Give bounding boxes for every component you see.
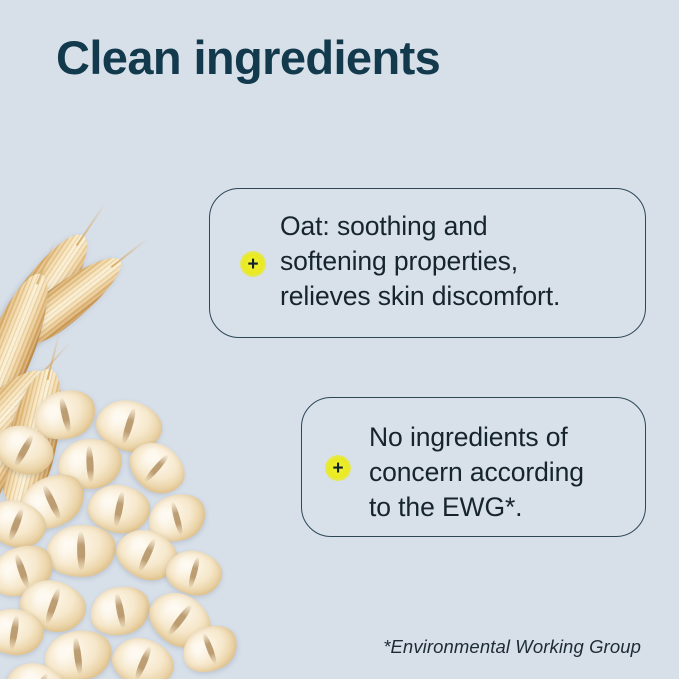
callout-card-ewg[interactable]: + No ingredients of concern according to…: [301, 397, 646, 537]
product-infographic: Clean ingredients + Oat: soo: [0, 0, 679, 679]
plus-icon: +: [240, 251, 266, 277]
oat-flake: [44, 523, 117, 580]
oat-hull: [4, 245, 133, 358]
callout-card-oat[interactable]: + Oat: soothing and softening properties…: [209, 188, 646, 338]
oat-hull: [0, 222, 103, 372]
oat-flake: [0, 537, 61, 605]
oat-flake: [120, 432, 194, 504]
oat-flake: [162, 546, 226, 601]
oat-flake: [85, 580, 155, 641]
oat-hull: [0, 428, 27, 570]
oat-flake: [142, 487, 211, 549]
oat-flake: [91, 394, 167, 458]
oat-flake: [29, 383, 102, 446]
oat-flake: [10, 464, 94, 540]
oat-flake: [0, 493, 52, 555]
oat-flake: [109, 521, 184, 589]
callout-text-oat: Oat: soothing and softening properties, …: [280, 209, 560, 314]
oat-flake: [106, 630, 181, 679]
page-title: Clean ingredients: [56, 32, 440, 85]
oat-hull: [0, 265, 63, 412]
oat-flake: [0, 606, 46, 658]
oat-flake: [85, 481, 153, 537]
oat-flake: [40, 625, 116, 679]
oat-flake: [0, 653, 78, 679]
callout-text-ewg: No ingredients of concern according to t…: [369, 420, 584, 525]
oat-flake: [14, 573, 91, 639]
oat-hull: [0, 363, 74, 513]
oat-flake: [0, 416, 61, 484]
oat-flake: [139, 581, 220, 658]
oat-hull: [0, 355, 62, 503]
oat-flake: [175, 618, 244, 679]
plus-icon: +: [325, 455, 351, 481]
oat-flake: [56, 436, 125, 492]
footnote-text: *Environmental Working Group: [383, 636, 641, 658]
